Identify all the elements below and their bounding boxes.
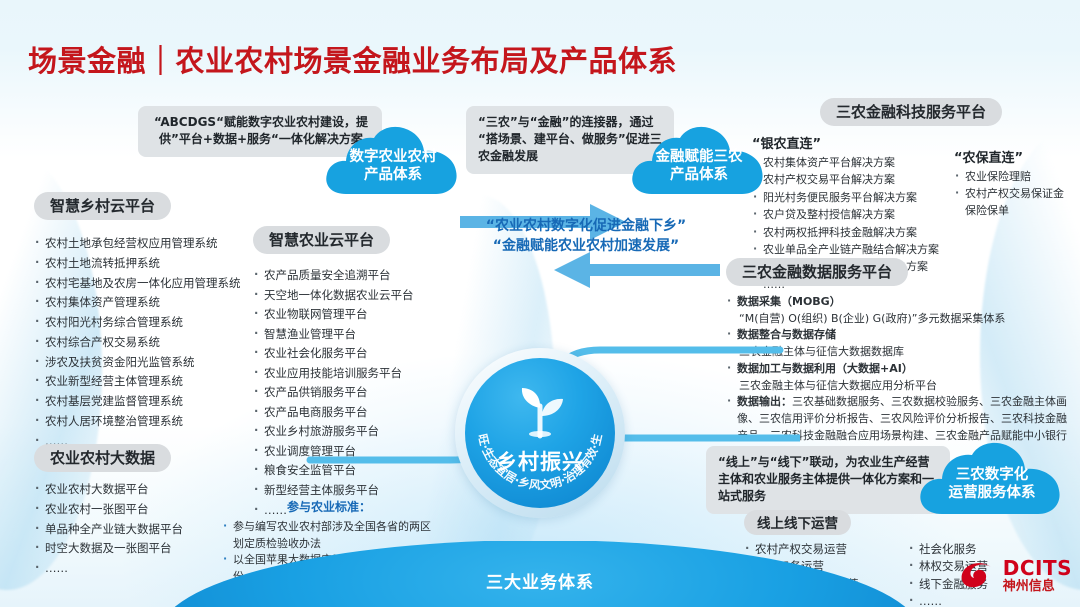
center-badge: 乡村振兴 产业兴旺·生态宜居·乡风文明·治理有效·生活富裕 bbox=[455, 348, 625, 518]
panel-fintech-service-heading: 三农金融科技服务平台 bbox=[820, 98, 1002, 126]
cloud-digital-operation-system: 三农数字化运营服务体系 bbox=[916, 440, 1068, 522]
cloud-label-line: 产品体系 bbox=[350, 166, 437, 184]
cloud-label-line: 三农数字化 bbox=[949, 466, 1036, 484]
footer-band-label: 三大业务体系 bbox=[0, 568, 1080, 593]
list-item: 农村两权抵押科技金融解决方案 bbox=[752, 224, 948, 241]
dcits-swirl-icon bbox=[958, 560, 998, 592]
list-item: 农村基层党建监督管理系统 bbox=[34, 392, 266, 412]
panel-smart-village-cloud-heading: 智慧乡村云平台 bbox=[34, 192, 171, 220]
list-item: 农业保险理赔 bbox=[954, 168, 1070, 185]
cloud-finance-empower-product: 金融赋能三农产品体系 bbox=[628, 124, 770, 202]
center-slogan-line2: “金融赋能农业农村加速发展” bbox=[452, 236, 720, 256]
smart-village-cloud-list: 农村土地承包经营权应用管理系统农村土地流转抵押系统农村宅基地及农房一体化应用管理… bbox=[34, 234, 266, 451]
center-badge-disc: 乡村振兴 产业兴旺·生态宜居·乡风文明·治理有效·生活富裕 bbox=[465, 358, 615, 508]
list-item: 农村产权交易平台解决方案 bbox=[752, 171, 948, 188]
list-item: 农村产权交易保证金保险保单 bbox=[954, 185, 1070, 219]
cloud-digital-operation-system-label: 三农数字化运营服务体系 bbox=[949, 460, 1036, 502]
list-item: 阳光村务便民服务平台解决方案 bbox=[752, 189, 948, 206]
list-item: 农村土地承包经营权应用管理系统 bbox=[34, 234, 266, 254]
list-item: 农业新型经营主体管理系统 bbox=[34, 372, 266, 392]
cloud-finance-empower-product-label: 金融赋能三农产品体系 bbox=[656, 142, 743, 184]
cloud-label-line: 金融赋能三农 bbox=[656, 148, 743, 166]
fintech-insurance-direct-title: “农保直连” bbox=[954, 147, 1070, 166]
cloud-label-line: 产品体系 bbox=[656, 166, 743, 184]
dcits-brand-cn: 神州信息 bbox=[1003, 580, 1072, 593]
cloud-label-line: 数字农业农村 bbox=[350, 148, 437, 166]
list-item: 农户贷及整村授信解决方案 bbox=[752, 206, 948, 223]
cloud-digital-agri-product-label: 数字农业农村产品体系 bbox=[350, 142, 437, 184]
list-item: 农村综合产权交易系统 bbox=[34, 333, 266, 353]
list-item: 农业农村大数据平台 bbox=[34, 480, 258, 500]
list-item: 农村集体资产平台解决方案 bbox=[752, 154, 948, 171]
center-slogan-line1: “农业农村数字化促进金融下乡” bbox=[452, 216, 720, 236]
center-badge-arc-text: 产业兴旺·生态宜居·乡风文明·治理有效·生活富裕 bbox=[465, 358, 615, 508]
cloud-digital-agri-product: 数字农业农村产品体系 bbox=[322, 124, 464, 202]
dcits-brand: DCITS bbox=[1003, 558, 1072, 578]
page-title: 场景金融｜农业农村场景金融业务布局及产品体系 bbox=[28, 38, 677, 80]
list-item: 涉农及扶贫资金阳光监管系统 bbox=[34, 353, 266, 373]
cloud-label-line: 运营服务体系 bbox=[949, 484, 1036, 502]
dcits-logo: DCITS 神州信息 bbox=[958, 558, 1072, 593]
footer-band: 三大业务体系 bbox=[0, 541, 1080, 607]
list-item: 农村土地流转抵押系统 bbox=[34, 254, 266, 274]
list-item: 农村阳光村务综合管理系统 bbox=[34, 313, 266, 333]
panel-smart-village-cloud: 智慧乡村云平台 农村土地承包经营权应用管理系统农村土地流转抵押系统农村宅基地及农… bbox=[34, 192, 266, 451]
panel-agri-big-data-heading: 农业农村大数据 bbox=[34, 444, 171, 472]
list-item: 农村集体资产管理系统 bbox=[34, 293, 266, 313]
center-slogan: “农业农村数字化促进金融下乡” “金融赋能农业农村加速发展” bbox=[452, 216, 720, 257]
svg-text:产业兴旺·生态宜居·乡风文明·治理有效·生活富裕: 产业兴旺·生态宜居·乡风文明·治理有效·生活富裕 bbox=[465, 358, 605, 492]
infographic-canvas: 场景金融｜农业农村场景金融业务布局及产品体系 “ABCDGS“赋能数字农业农村建… bbox=[0, 0, 1080, 607]
fintech-insurance-direct-list: 农业保险理赔农村产权交易保证金保险保单 bbox=[954, 168, 1070, 219]
list-item: 农村人居环境整治管理系统 bbox=[34, 412, 266, 432]
list-item: 农村宅基地及农房一体化应用管理系统 bbox=[34, 274, 266, 294]
fintech-bank-direct-title: “银农直连” bbox=[752, 133, 948, 152]
arc-text-content: 产业兴旺·生态宜居·乡风文明·治理有效·生活富裕 bbox=[465, 358, 605, 492]
